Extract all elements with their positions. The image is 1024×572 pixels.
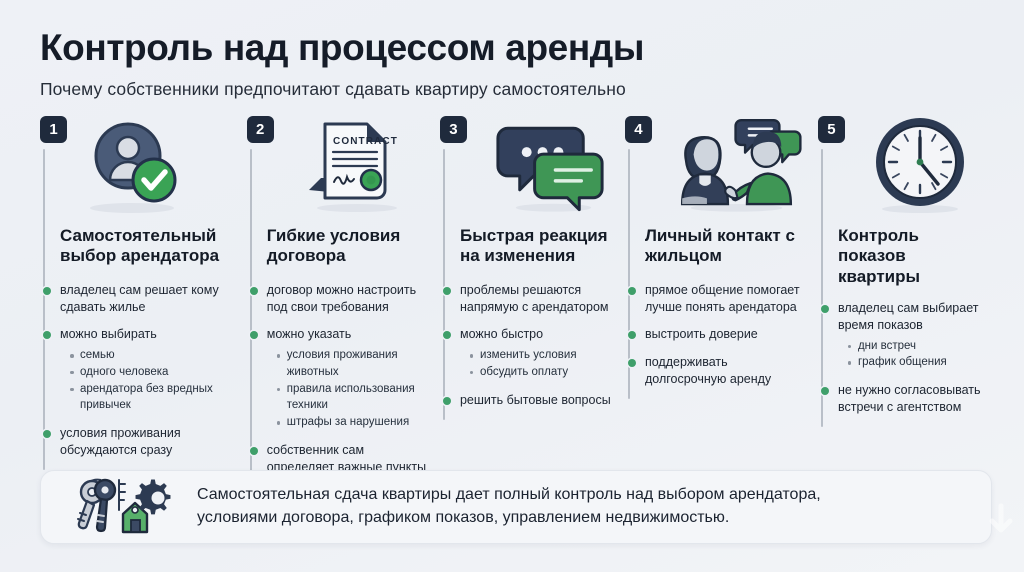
sub-list: условия проживания животных правила испо… (275, 347, 430, 430)
bullet-dot-icon (443, 287, 451, 295)
bullet-text: поддерживать долгосрочную аренду (645, 354, 808, 388)
benefit-bullets-2: договор можно настроить под свои требова… (267, 282, 430, 476)
bullet-dot-icon (628, 287, 636, 295)
two-people-talking-icon (655, 116, 808, 216)
bullet-dot-icon (443, 331, 451, 339)
benefit-column-2: 2 CONTRACT (247, 116, 440, 487)
sub-list-item: изменить условия (468, 347, 615, 364)
sub-list-item: одного человека (68, 364, 237, 381)
bullet-text: договор можно настроить под свои требова… (267, 282, 430, 316)
bullet-dot-icon (443, 397, 451, 405)
bullet-dot-icon (821, 305, 829, 313)
list-item: можно указать условия проживания животны… (267, 326, 430, 430)
bullet-dot-icon (43, 430, 51, 438)
step-badge-5: 5 (818, 116, 845, 143)
step-badge-3: 3 (440, 116, 467, 143)
benefit-heading-4: Личный контакт с жильцом (645, 226, 808, 270)
bullet-dot-icon (628, 359, 636, 367)
benefit-bullets-4: прямое общение помогает лучше понять аре… (645, 282, 808, 388)
benefit-bullets-5: владелец сам выбирает время показов дни … (838, 300, 982, 416)
summary-banner: Самостоятельная сдача квартиры дает полн… (40, 470, 992, 544)
list-item: владелец сам выбирает время показов дни … (838, 300, 982, 371)
benefit-column-5: 5 (818, 116, 992, 427)
benefit-bullets-1: владелец сам решает кому сдавать жилье м… (60, 282, 237, 459)
benefit-heading-5: Контроль показов квартиры (838, 226, 982, 288)
bullet-text: владелец сам выбирает время показов (838, 300, 982, 334)
timeline-rail (250, 149, 252, 487)
chat-bubbles-icon (470, 116, 615, 216)
sub-list-item: обсудить оплату (468, 364, 615, 381)
list-item: решить бытовые вопросы (460, 392, 615, 409)
timeline-rail (43, 149, 45, 470)
infographic-poster: Контроль над процессом аренды Почему соб… (0, 0, 1024, 572)
bullet-text: не нужно согласовывать встречи с агентст… (838, 382, 982, 416)
sub-list-item: штрафы за нарушения (275, 414, 430, 431)
benefit-heading-2: Гибкие условия договора (267, 226, 430, 270)
bullet-text: можно указать (267, 326, 430, 343)
summary-line-1: Самостоятельная сдача квартиры дает полн… (197, 484, 821, 507)
sub-list: семью одного человека арендатора без вре… (68, 347, 237, 414)
sub-list: дни встреч график общения (846, 338, 982, 371)
bullet-dot-icon (250, 331, 258, 339)
benefit-bullets-3: проблемы решаются напрямую с арендатором… (460, 282, 615, 409)
summary-banner-text: Самостоятельная сдача квартиры дает полн… (197, 484, 821, 529)
list-item: владелец сам решает кому сдавать жилье (60, 282, 237, 316)
page-title: Контроль над процессом аренды (40, 28, 992, 69)
bullet-text: выстроить доверие (645, 326, 808, 343)
bullet-dot-icon (628, 331, 636, 339)
sub-list-item: правила использования техники (275, 381, 430, 414)
benefit-column-3: 3 Быстрая реакция на изменения (440, 116, 625, 420)
page-subtitle: Почему собственники предпочитают сдавать… (40, 79, 992, 100)
bullet-text: решить бытовые вопросы (460, 392, 615, 409)
bullet-dot-icon (250, 287, 258, 295)
bullet-text: проблемы решаются напрямую с арендатором (460, 282, 615, 316)
list-item: можно выбирать семью одного человека аре… (60, 326, 237, 414)
list-item: прямое общение помогает лучше понять аре… (645, 282, 808, 316)
step-badge-4: 4 (625, 116, 652, 143)
step-badge-1: 1 (40, 116, 67, 143)
bullet-dot-icon (250, 447, 258, 455)
timeline-rail (821, 149, 823, 427)
list-item: договор можно настроить под свои требова… (267, 282, 430, 316)
bullet-text: условия проживания обсуждаются сразу (60, 425, 237, 459)
keys-house-gear-icon (67, 474, 175, 541)
list-item: можно быстро изменить условия обсудить о… (460, 326, 615, 380)
list-item: поддерживать долгосрочную аренду (645, 354, 808, 388)
poster-header: Контроль над процессом аренды Почему соб… (40, 28, 992, 100)
timeline-rail (443, 149, 445, 420)
list-item: не нужно согласовывать встречи с агентст… (838, 382, 982, 416)
summary-line-2: условиями договора, графиком показов, уп… (197, 507, 821, 530)
list-item: условия проживания обсуждаются сразу (60, 425, 237, 459)
svg-text:CONTRACT: CONTRACT (333, 136, 398, 147)
bullet-dot-icon (43, 287, 51, 295)
list-item: выстроить доверие (645, 326, 808, 343)
bullet-text: можно быстро (460, 326, 615, 343)
sub-list: изменить условия обсудить оплату (468, 347, 615, 380)
list-item: проблемы решаются напрямую с арендатором (460, 282, 615, 316)
bullet-text: можно выбирать (60, 326, 237, 343)
benefit-columns: 1 Самостоятельный выбор арендатора владе… (40, 116, 992, 487)
bullet-text: прямое общение помогает лучше понять аре… (645, 282, 808, 316)
wall-clock-icon (848, 116, 982, 216)
sub-list-item: семью (68, 347, 237, 364)
benefit-heading-1: Самостоятельный выбор арендатора (60, 226, 237, 270)
benefit-column-1: 1 Самостоятельный выбор арендатора владе… (40, 116, 247, 470)
benefit-column-4: 4 (625, 116, 818, 399)
bullet-dot-icon (821, 387, 829, 395)
sub-list-item: арендатора без вредных привычек (68, 381, 237, 414)
sub-list-item: дни встреч (846, 338, 982, 355)
benefit-heading-3: Быстрая реакция на изменения (460, 226, 615, 270)
sub-list-item: график общения (846, 354, 982, 371)
bullet-dot-icon (43, 331, 51, 339)
user-check-icon (70, 116, 237, 216)
contract-document-icon: CONTRACT (277, 116, 430, 216)
step-badge-2: 2 (247, 116, 274, 143)
sub-list-item: условия проживания животных (275, 347, 430, 380)
bullet-text: владелец сам решает кому сдавать жилье (60, 282, 237, 316)
